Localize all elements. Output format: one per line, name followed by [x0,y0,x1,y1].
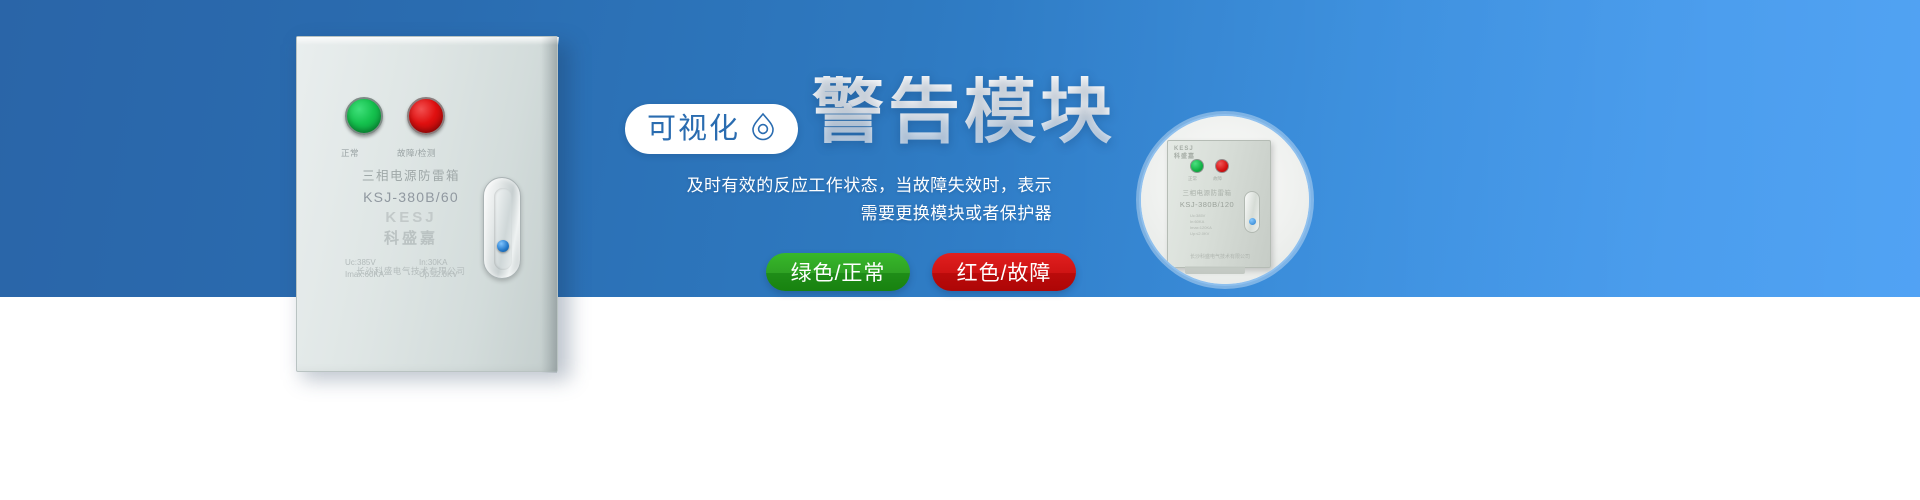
handle-slot [494,188,512,270]
subtitle-line-2: 需要更换模块或者保护器 [640,200,1052,228]
inset-product-title: 三相电源防雷箱 [1168,187,1246,197]
inset-lamp-label-normal: 正常 [1188,176,1197,182]
indicator-lamp-red [407,97,445,135]
subtitle-line-1: 及时有效的反应工作状态，当故障失效时，表示 [640,172,1052,200]
inset-cabinet-handle [1244,191,1260,233]
cabinet-top-highlight [297,37,559,45]
visualization-pill: 可视化 [625,104,798,154]
inset-lamp-red [1215,159,1229,173]
inset-handle-lock-dot [1249,218,1256,225]
inset-spec-up: Up:≤2.0KV [1190,231,1212,237]
status-badge-normal: 绿色/正常 [766,253,910,291]
indicator-lamp-green [345,97,383,135]
subtitle: 及时有效的反应工作状态，当故障失效时，表示 需要更换模块或者保护器 [640,172,1052,228]
status-badge-fault: 红色/故障 [932,253,1076,291]
pill-label: 可视化 [647,115,740,144]
white-band-right [1180,297,1920,500]
promo-banner: 正常 故障/检测 三相电源防雷箱 KSJ-380B/60 KESJ 科盛嘉 Uc… [0,0,1920,500]
product-inset-circle: KESJ 科盛嘉 正常 故障 三相电源防雷箱 KSJ-380B/120 Uc:3… [1139,114,1311,286]
cabinet-right-edge [541,37,557,373]
page-title: 警告模块 [812,76,1116,148]
white-band-left [0,297,1190,500]
inset-brand-en: KESJ [1174,146,1195,154]
product-photo: 正常 故障/检测 三相电源防雷箱 KSJ-380B/60 KESJ 科盛嘉 Uc… [296,36,558,372]
cabinet-body: 正常 故障/检测 三相电源防雷箱 KSJ-380B/60 KESJ 科盛嘉 Uc… [296,36,558,372]
inset-cabinet: KESJ 科盛嘉 正常 故障 三相电源防雷箱 KSJ-380B/120 Uc:3… [1167,140,1271,268]
inset-brand-logo: KESJ 科盛嘉 [1174,146,1195,162]
eye-diamond-icon [750,112,776,147]
inset-lamp-label-fault: 故障 [1213,176,1222,182]
inset-specs: Uc:385V In:60KA Imax:120KA Up:≤2.0KV [1190,213,1212,237]
inset-faceplate-text: 三相电源防雷箱 KSJ-380B/120 [1168,187,1246,209]
inset-cabinet-base [1185,266,1245,274]
inset-company: 长沙科盛电气技术有限公司 [1168,253,1272,260]
lamp-label-fault: 故障/检测 [397,147,436,159]
handle-lock-dot [497,240,509,252]
inset-lamp-green [1190,159,1204,173]
cabinet-handle [483,177,521,279]
lamp-label-normal: 正常 [341,147,359,159]
inset-product-model: KSJ-380B/120 [1168,200,1246,209]
status-badges: 绿色/正常 红色/故障 [766,253,1076,291]
